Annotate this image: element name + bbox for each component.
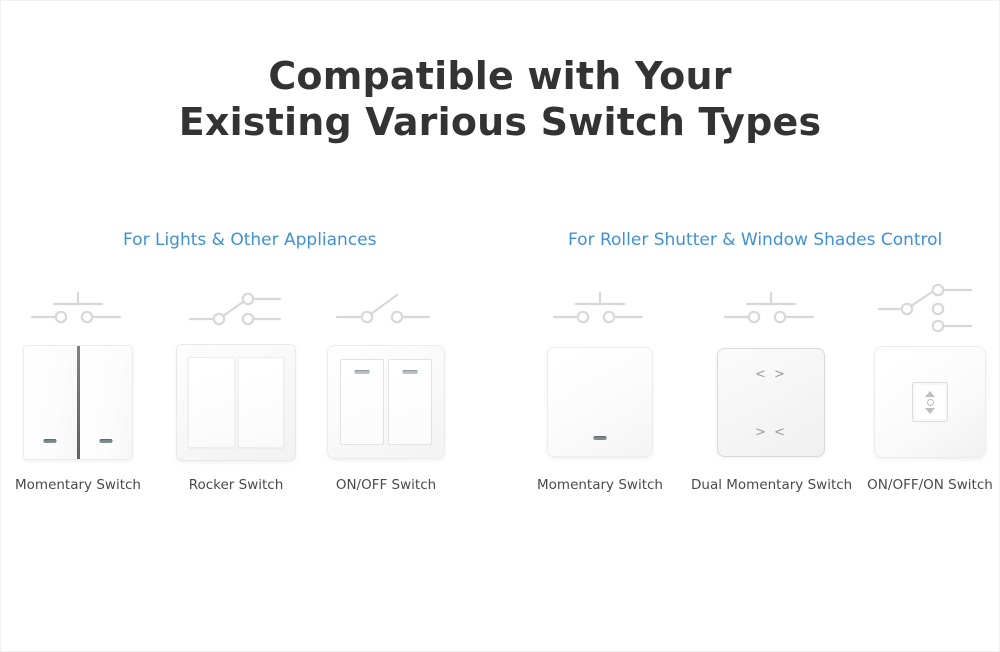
product-image — [156, 337, 316, 467]
switch-caption: ON/OFF Switch — [306, 477, 466, 493]
switch-caption: Dual Momentary Switch — [691, 477, 851, 493]
product-image: < > > < — [691, 337, 851, 467]
spdt-changeover-schematic-icon — [186, 287, 286, 331]
schematic-diagram — [306, 283, 466, 335]
switch-paddle-left — [24, 346, 77, 459]
switch-paddle-right — [238, 357, 285, 448]
product-image — [850, 337, 1000, 467]
shutter-rocker-switch-image — [875, 347, 985, 457]
switch-card-momentary-lights: Momentary Switch — [0, 283, 158, 498]
single-gang-momentary-switch-image — [548, 348, 652, 456]
shutter-open-glyph-icon: < > — [718, 367, 824, 382]
push-button-schematic-icon — [550, 287, 650, 331]
dual-momentary-switch-image: < > > < — [717, 348, 825, 457]
three-position-schematic-icon — [875, 283, 985, 335]
spst-open-schematic-icon — [331, 287, 441, 331]
push-button-schematic-icon — [28, 287, 128, 331]
schematic-diagram — [0, 283, 158, 335]
two-gang-rocker-switch-image — [177, 345, 295, 460]
switch-card-momentary-shutter: Momentary Switch — [520, 283, 680, 498]
schematic-diagram — [156, 283, 316, 335]
product-image — [520, 337, 680, 467]
switch-paddle-right — [80, 346, 133, 459]
product-image — [306, 337, 466, 467]
switch-caption: Rocker Switch — [156, 477, 316, 493]
two-gang-momentary-switch-image — [24, 346, 132, 459]
section-title-shutter: For Roller Shutter & Window Shades Contr… — [568, 230, 942, 250]
led-indicator-icon — [44, 439, 57, 443]
shutter-control-module — [912, 382, 948, 422]
switch-card-dual-momentary: < > > < Dual Momentary Switch — [691, 283, 851, 498]
stop-circle-icon — [927, 399, 934, 406]
switch-paddle-right — [388, 359, 432, 445]
switch-card-onoff: ON/OFF Switch — [306, 283, 466, 498]
led-indicator-icon — [99, 439, 112, 443]
switch-card-onoffon: ON/OFF/ON Switch — [850, 283, 1000, 498]
page-title: Compatible with Your Existing Various Sw… — [1, 53, 999, 145]
switch-caption: Momentary Switch — [520, 477, 680, 493]
switch-card-rocker: Rocker Switch — [156, 283, 316, 498]
switch-paddle-left — [188, 357, 235, 448]
arrow-up-icon — [925, 391, 935, 397]
arrow-down-icon — [925, 408, 935, 414]
shutter-close-glyph-icon: > < — [718, 425, 824, 440]
schematic-diagram — [850, 283, 1000, 335]
schematic-diagram — [691, 283, 851, 335]
led-indicator-icon — [355, 370, 370, 374]
led-indicator-icon — [594, 436, 607, 440]
switch-caption: Momentary Switch — [0, 477, 158, 493]
page-title-line-1: Compatible with Your — [1, 53, 999, 99]
schematic-diagram — [520, 283, 680, 335]
switch-caption: ON/OFF/ON Switch — [850, 477, 1000, 493]
push-button-schematic-icon — [721, 287, 821, 331]
section-title-lights: For Lights & Other Appliances — [123, 230, 377, 250]
product-feature-page: Compatible with Your Existing Various Sw… — [0, 0, 1000, 652]
led-indicator-icon — [403, 370, 418, 374]
page-title-line-2: Existing Various Switch Types — [1, 99, 999, 145]
two-gang-onoff-switch-image — [328, 346, 444, 458]
product-image — [0, 337, 158, 467]
switch-paddle-left — [340, 359, 384, 445]
